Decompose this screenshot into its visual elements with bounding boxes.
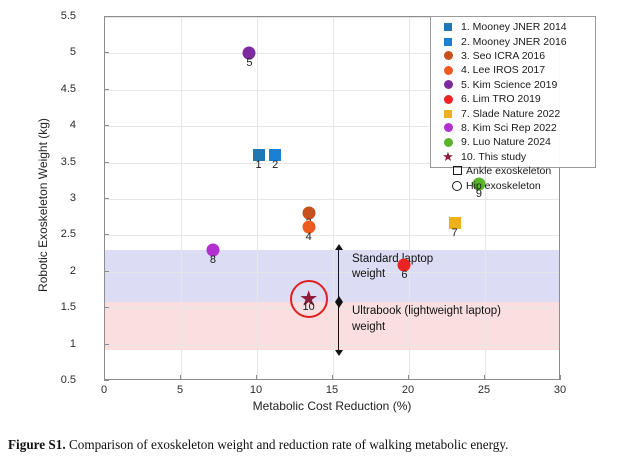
ultrabook-weight-annotation: Ultrabook (lightweight laptop) weight xyxy=(352,304,501,335)
band-standard-laptop-weight xyxy=(105,250,559,302)
figure-caption: Figure S1. Comparison of exoskeleton wei… xyxy=(8,436,636,453)
data-point-label-1: 1 xyxy=(255,160,261,171)
shape-symbol xyxy=(452,181,462,191)
x-axis-label: Metabolic Cost Reduction (%) xyxy=(104,399,560,413)
x-tick-mark xyxy=(560,375,561,380)
data-point-label-10: 10 xyxy=(303,302,315,313)
figure-s1: Standard laptop weightUltrabook (lightwe… xyxy=(0,0,640,420)
legend-label-6: 6. Lim TRO 2019 xyxy=(461,93,541,105)
gridline-vertical xyxy=(181,17,182,379)
legend-label-2: 2. Mooney JNER 2016 xyxy=(461,36,567,48)
data-point-label-8: 8 xyxy=(210,255,216,266)
shape-legend: Ankle exoskeletonHip exoskeleton xyxy=(448,163,598,193)
legend-label-7: 7. Slade Nature 2022 xyxy=(461,108,560,120)
gridline-vertical xyxy=(257,17,258,379)
x-tick-mark xyxy=(256,375,257,380)
legend-swatch-shape xyxy=(444,23,452,31)
legend-swatch-shape xyxy=(444,138,453,147)
gridline-horizontal xyxy=(105,199,559,200)
x-tick-label: 5 xyxy=(177,384,183,396)
x-tick-label: 10 xyxy=(250,384,262,396)
legend-marker-9-icon xyxy=(435,138,461,147)
legend-label-5: 5. Kim Science 2019 xyxy=(461,79,557,91)
y-tick-label: 4 xyxy=(36,119,76,131)
y-tick-label: 1.5 xyxy=(36,301,76,313)
shape-symbol xyxy=(453,166,462,175)
data-point-label-2: 2 xyxy=(272,160,278,171)
standard-weight-arrow xyxy=(338,250,339,302)
legend-swatch-shape xyxy=(444,51,453,60)
x-tick-label: 20 xyxy=(402,384,414,396)
legend-marker-7-icon xyxy=(435,110,461,118)
data-point-label-7: 7 xyxy=(452,228,458,239)
y-tick-label: 5.5 xyxy=(36,10,76,22)
legend-marker-4-icon xyxy=(435,66,461,75)
legend-item-4[interactable]: 4. Lee IROS 2017 xyxy=(435,63,591,77)
y-tick-label: 2.5 xyxy=(36,228,76,240)
legend-marker-2-icon xyxy=(435,38,461,46)
y-tick-label: 2 xyxy=(36,265,76,277)
caption-text: Comparison of exoskeleton weight and red… xyxy=(69,437,508,452)
legend-swatch-shape: ★ xyxy=(442,150,454,163)
y-tick-mark xyxy=(104,380,109,381)
data-point-label-5: 5 xyxy=(246,58,252,69)
x-tick-label: 0 xyxy=(101,384,107,396)
legend-label-4: 4. Lee IROS 2017 xyxy=(461,64,545,76)
legend: 1. Mooney JNER 20142. Mooney JNER 20163.… xyxy=(430,16,596,168)
y-tick-label: 3.5 xyxy=(36,156,76,168)
legend-item-3[interactable]: 3. Seo ICRA 2016 xyxy=(435,49,591,63)
legend-item-10[interactable]: ★10. This study xyxy=(435,150,591,164)
legend-swatch-shape xyxy=(444,38,452,46)
gridline-horizontal xyxy=(105,272,559,273)
x-tick-mark xyxy=(484,375,485,380)
legend-label-9: 9. Luo Nature 2024 xyxy=(461,136,551,148)
y-tick-label: 4.5 xyxy=(36,83,76,95)
y-tick-mark xyxy=(104,89,109,90)
legend-item-9[interactable]: 9. Luo Nature 2024 xyxy=(435,135,591,149)
circle-outline-icon xyxy=(448,181,466,191)
legend-swatch-shape xyxy=(444,95,453,104)
y-tick-mark xyxy=(104,344,109,345)
x-tick-mark xyxy=(180,375,181,380)
caption-prefix: Figure S1. xyxy=(8,437,66,452)
legend-swatch-shape xyxy=(444,80,453,89)
legend-item-7[interactable]: 7. Slade Nature 2022 xyxy=(435,106,591,120)
legend-item-2[interactable]: 2. Mooney JNER 2016 xyxy=(435,34,591,48)
gridline-horizontal xyxy=(105,235,559,236)
x-tick-label: 15 xyxy=(326,384,338,396)
legend-label-8: 8. Kim Sci Rep 2022 xyxy=(461,122,557,134)
shape-legend-item-circle: Hip exoskeleton xyxy=(448,178,598,193)
legend-marker-10-icon: ★ xyxy=(435,150,461,163)
y-tick-label: 0.5 xyxy=(36,374,76,386)
ultrabook-weight-arrow xyxy=(338,302,339,350)
legend-swatch-shape xyxy=(444,123,453,132)
y-tick-mark xyxy=(104,16,109,17)
gridline-horizontal xyxy=(105,345,559,346)
shape-legend-label-square: Ankle exoskeleton xyxy=(466,165,551,177)
y-tick-mark xyxy=(104,307,109,308)
legend-item-1[interactable]: 1. Mooney JNER 2014 xyxy=(435,20,591,34)
y-tick-mark xyxy=(104,52,109,53)
data-point-label-4: 4 xyxy=(306,232,312,243)
x-tick-mark xyxy=(332,375,333,380)
data-point-label-6: 6 xyxy=(401,270,407,281)
shape-legend-item-square: Ankle exoskeleton xyxy=(448,163,598,178)
x-tick-label: 25 xyxy=(478,384,490,396)
legend-item-5[interactable]: 5. Kim Science 2019 xyxy=(435,78,591,92)
y-tick-label: 5 xyxy=(36,46,76,58)
gridline-vertical xyxy=(333,17,334,379)
legend-marker-6-icon xyxy=(435,95,461,104)
y-tick-mark xyxy=(104,198,109,199)
legend-swatch-shape xyxy=(444,66,453,75)
x-tick-mark xyxy=(408,375,409,380)
y-tick-mark xyxy=(104,271,109,272)
legend-item-6[interactable]: 6. Lim TRO 2019 xyxy=(435,92,591,106)
y-tick-mark xyxy=(104,234,109,235)
y-tick-label: 1 xyxy=(36,338,76,350)
shape-legend-label-circle: Hip exoskeleton xyxy=(466,180,541,192)
legend-marker-5-icon xyxy=(435,80,461,89)
legend-item-8[interactable]: 8. Kim Sci Rep 2022 xyxy=(435,121,591,135)
legend-label-1: 1. Mooney JNER 2014 xyxy=(461,21,567,33)
x-tick-label: 30 xyxy=(554,384,566,396)
y-tick-mark xyxy=(104,125,109,126)
square-outline-icon xyxy=(448,166,466,175)
y-tick-mark xyxy=(104,162,109,163)
y-tick-label: 3 xyxy=(36,192,76,204)
legend-label-10: 10. This study xyxy=(461,151,526,163)
legend-swatch-shape xyxy=(444,110,452,118)
standard-weight-annotation: Standard laptop weight xyxy=(352,252,433,283)
legend-marker-1-icon xyxy=(435,23,461,31)
legend-marker-3-icon xyxy=(435,51,461,60)
x-tick-mark xyxy=(104,375,105,380)
legend-label-3: 3. Seo ICRA 2016 xyxy=(461,50,545,62)
legend-marker-8-icon xyxy=(435,123,461,132)
